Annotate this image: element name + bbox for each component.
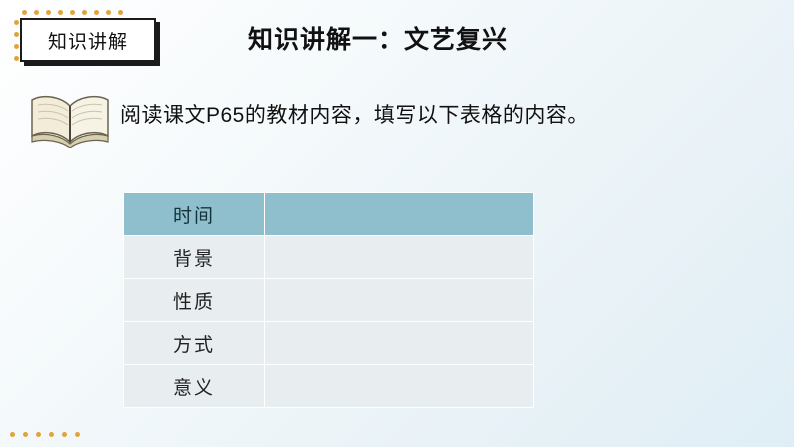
table-row-value[interactable] xyxy=(265,279,534,322)
table-row: 背景 xyxy=(124,236,534,279)
table-row-value[interactable] xyxy=(265,365,534,408)
dot xyxy=(14,44,19,49)
dot xyxy=(62,432,67,437)
dot xyxy=(49,432,54,437)
decorative-dots-bottom xyxy=(10,432,80,437)
info-table-wrapper: 时间 背景 性质 方式 意义 xyxy=(123,192,531,408)
table-row: 方式 xyxy=(124,322,534,365)
instruction-text: 阅读课文P65的教材内容，填写以下表格的内容。 xyxy=(120,100,660,133)
dot xyxy=(75,432,80,437)
dot xyxy=(46,10,51,15)
badge-dots-left xyxy=(14,20,19,61)
dot xyxy=(14,56,19,61)
table-row-value[interactable] xyxy=(265,322,534,365)
dot xyxy=(36,432,41,437)
dot xyxy=(10,432,15,437)
badge-dots-top xyxy=(22,10,123,15)
table-row-label: 背景 xyxy=(124,236,265,279)
dot xyxy=(14,32,19,37)
section-badge: 知识讲解 xyxy=(12,8,162,62)
dot xyxy=(70,10,75,15)
dot xyxy=(118,10,123,15)
open-book-icon xyxy=(28,92,112,148)
page-title: 知识讲解一：文艺复兴 xyxy=(248,20,508,56)
table-row: 时间 xyxy=(124,193,534,236)
table-row: 性质 xyxy=(124,279,534,322)
table-row-label: 方式 xyxy=(124,322,265,365)
dot xyxy=(14,20,19,25)
table-row-label: 时间 xyxy=(124,193,265,236)
dot xyxy=(23,432,28,437)
table-row-value[interactable] xyxy=(265,236,534,279)
dot xyxy=(106,10,111,15)
badge-box: 知识讲解 xyxy=(20,18,156,62)
table-row-value[interactable] xyxy=(265,193,534,236)
table-row-label: 性质 xyxy=(124,279,265,322)
dot xyxy=(22,10,27,15)
table-row-label: 意义 xyxy=(124,365,265,408)
dot xyxy=(34,10,39,15)
dot xyxy=(94,10,99,15)
dot xyxy=(58,10,63,15)
badge-label: 知识讲解 xyxy=(48,27,128,54)
dot xyxy=(82,10,87,15)
info-table: 时间 背景 性质 方式 意义 xyxy=(123,192,534,408)
table-row: 意义 xyxy=(124,365,534,408)
